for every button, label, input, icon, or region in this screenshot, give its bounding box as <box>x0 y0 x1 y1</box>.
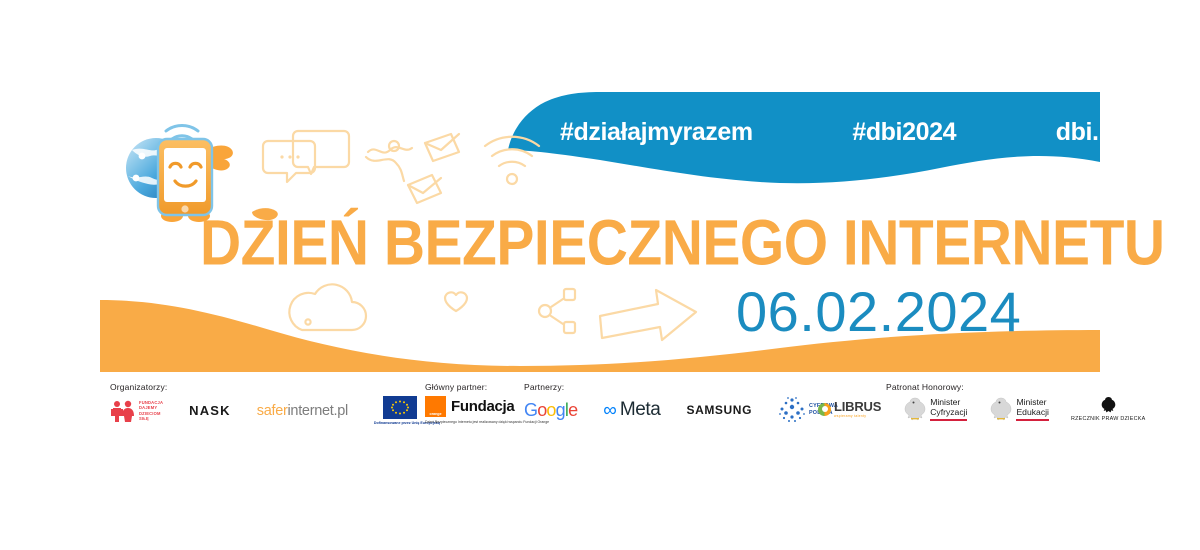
minister-cyfryzacji-red-bar <box>930 419 967 421</box>
google-letter-6: e <box>568 400 577 421</box>
sponsor-strip: Organizatorzy: FUNDACJ <box>0 378 1200 458</box>
fundacja-orange-logo[interactable]: orange Fundacja Dzień Bezpiecznego Inter… <box>425 396 523 425</box>
minister-edukacji-line-2: Edukacji <box>1016 407 1048 417</box>
group-organizatorzy: Organizatorzy: FUNDACJ <box>110 382 426 426</box>
fdds-line-4: SIŁĘ <box>139 416 163 421</box>
librus-tagline: wspieramy talenty <box>834 414 881 418</box>
website-link-dbi-pl[interactable]: dbi.pl <box>1056 118 1120 147</box>
poster-canvas: #działajmyrazem #dbi2024 dbi.pl DZIEŃ BE… <box>0 0 1200 550</box>
fundacja-orange-caption: Dzień Bezpiecznego Internetu jest realiz… <box>425 420 523 425</box>
polish-eagle-icon <box>989 396 1013 422</box>
chat-bubbles-icon <box>263 131 349 182</box>
google-letter-2: o <box>537 400 546 421</box>
saferinternet-pl-logo[interactable]: saferinternet.pl <box>257 403 348 419</box>
page-title: DZIEŃ BEZPIECZNEGO INTERNETU <box>200 212 1080 276</box>
google-letter-1: G <box>524 400 537 421</box>
eu-flag-icon <box>383 396 417 419</box>
rzecznik-wordmark: RZECZNIK PRAW DZIECKA <box>1071 416 1146 422</box>
rzecznik-praw-dziecka-logo[interactable]: RZECZNIK PRAW DZIECKA <box>1071 396 1146 422</box>
hashtag-dbi2024[interactable]: #dbi2024 <box>852 118 956 147</box>
meta-wordmark: Meta <box>620 399 661 421</box>
minister-cyfryzacji-line-1: Minister <box>930 397 967 407</box>
heart-icon <box>445 292 467 311</box>
group-title-partnerzy: Partnerzy: <box>524 382 838 392</box>
google-letter-3: o <box>546 400 555 421</box>
eu-funding-caption: Dofinansowane przez Unię Europejską <box>374 421 426 426</box>
two-children-icon <box>110 400 136 422</box>
arrow-right-icon <box>600 290 696 340</box>
polish-eagle-black-icon <box>1100 396 1117 414</box>
librus-logo[interactable]: LIBRUS wspieramy talenty <box>818 400 881 418</box>
group-glowny-partner: Główny partner: orange Fundacja Dzień Be… <box>425 382 523 425</box>
banner-hashtags: #działajmyrazem #dbi2024 dbi.pl <box>560 112 1120 152</box>
samsung-logo[interactable]: SAMSUNG <box>686 403 752 417</box>
hashtag-dzialajmyrazem[interactable]: #działajmyrazem <box>560 118 753 147</box>
cloud-icon <box>289 284 366 330</box>
group-partnerzy: Partnerzy: Google ∞ Meta SAMSUNG <box>524 382 838 424</box>
minister-edukacji-line-1: Minister <box>1016 397 1048 407</box>
safer-rest: internet.pl <box>288 403 348 419</box>
librus-wordmark: LIBRUS <box>834 400 881 413</box>
orange-brand-square: orange <box>425 396 446 417</box>
meta-infinity-icon: ∞ <box>603 401 617 420</box>
fundacja-wordmark: Fundacja <box>451 398 514 415</box>
network-dots-icon <box>778 396 806 424</box>
polish-eagle-icon <box>903 396 927 422</box>
event-date: 06.02.2024 <box>736 284 1076 340</box>
nask-logo[interactable]: NASK <box>189 403 231 418</box>
group-patronat-honorowy: Patronat Honorowy: LIBRUS wspieramy tale… <box>818 382 1145 422</box>
meta-logo[interactable]: ∞ Meta <box>603 399 660 421</box>
share-nodes-icon <box>539 289 575 333</box>
minister-cyfryzacji-line-2: Cyfryzacji <box>930 407 967 417</box>
fundacja-dajemy-dzieciom-sile-logo[interactable]: FUNDACJA DAJEMY DZIECIOM SIŁĘ <box>110 400 163 422</box>
minister-edukacji-logo[interactable]: Minister Edukacji <box>989 396 1048 422</box>
group-title-glowny-partner: Główny partner: <box>425 382 523 392</box>
safer-accent: safer <box>257 403 288 419</box>
librus-ring-icon <box>818 403 831 416</box>
envelopes-path-icon <box>366 134 459 203</box>
google-logo[interactable]: Google <box>524 400 577 421</box>
minister-cyfryzacji-logo[interactable]: Minister Cyfryzacji <box>903 396 967 422</box>
group-title-patronat-honorowy: Patronat Honorowy: <box>886 382 1145 392</box>
european-union-flag-logo[interactable]: Dofinansowane przez Unię Europejską <box>374 396 426 426</box>
google-letter-4: g <box>556 400 565 421</box>
minister-edukacji-red-bar <box>1016 419 1048 421</box>
group-title-organizatorzy: Organizatorzy: <box>110 382 426 392</box>
